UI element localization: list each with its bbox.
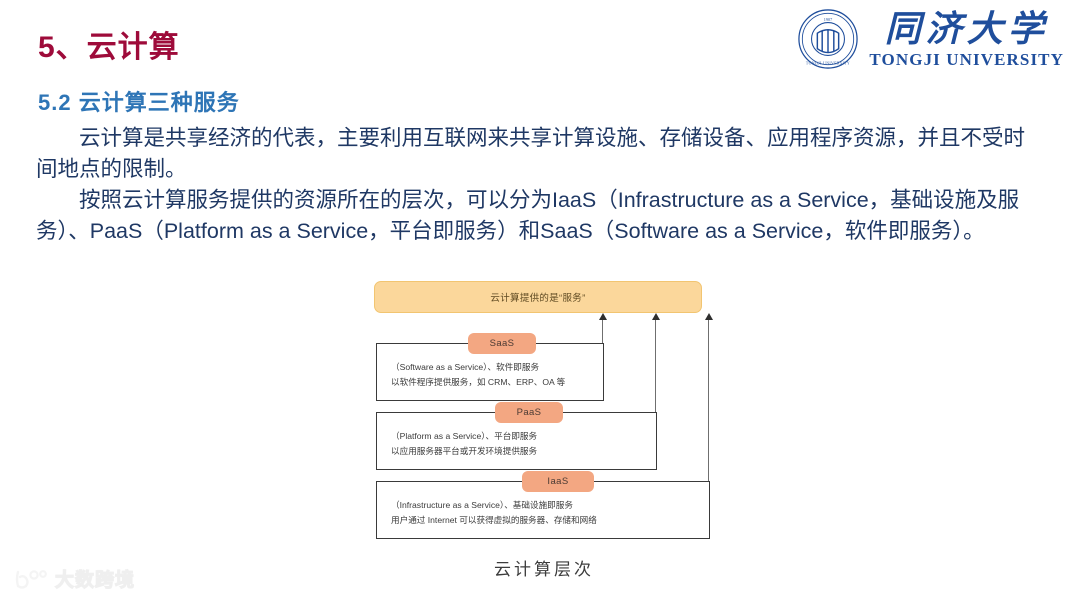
- university-logo: 1907 TONGJI UNIVERSITY 同济大学 TONGJI UNIVE…: [797, 8, 1064, 70]
- layer-description-paas: （Platform as a Service）、平台即服务 以应用服务器平台或开…: [391, 429, 537, 458]
- cloud-layers-diagram: 云计算提供的是“服务” （Infrastructure as a Service…: [374, 281, 714, 553]
- logo-name-en: TONGJI UNIVERSITY: [869, 51, 1064, 68]
- layer-iaas-line2: 用户通过 Internet 可以获得虚拟的服务器、存储和网络: [391, 513, 597, 528]
- layer-description-iaas: （Infrastructure as a Service）、基础设施即服务 用户…: [391, 498, 597, 527]
- paragraph-2: 按照云计算服务提供的资源所在的层次，可以分为IaaS（Infrastructur…: [36, 185, 1036, 247]
- connector-saas: [602, 318, 603, 343]
- layer-paas-line1: （Platform as a Service）、平台即服务: [391, 429, 537, 444]
- body-text: 云计算是共享经济的代表，主要利用互联网来共享计算设施、存储设备、应用程序资源，并…: [36, 123, 1036, 247]
- diagram-caption: 云计算层次: [374, 555, 714, 580]
- layer-saas-line1: （Software as a Service）、软件即服务: [391, 360, 565, 375]
- layer-label-iaas: IaaS: [522, 471, 594, 492]
- svg-text:1907: 1907: [824, 17, 833, 22]
- arrow-head-saas-icon: [599, 313, 607, 320]
- slide-canvas: 1907 TONGJI UNIVERSITY 同济大学 TONGJI UNIVE…: [0, 0, 1080, 608]
- section-subtitle: 5.2 云计算三种服务: [38, 85, 240, 117]
- connector-paas: [655, 318, 656, 412]
- page-title: 5、云计算: [38, 22, 180, 66]
- logo-wordmark: 同济大学 TONGJI UNIVERSITY: [869, 11, 1064, 68]
- arrow-head-paas-icon: [652, 313, 660, 320]
- layer-label-saas: SaaS: [468, 333, 536, 354]
- arrow-head-iaas-icon: [705, 313, 713, 320]
- layer-iaas-line1: （Infrastructure as a Service）、基础设施即服务: [391, 498, 597, 513]
- layer-description-saas: （Software as a Service）、软件即服务 以软件程序提供服务，…: [391, 360, 565, 389]
- watermark: 大数跨境: [14, 565, 135, 592]
- logo-name-cn: 同济大学: [885, 11, 1049, 47]
- svg-text:TONGJI UNIVERSITY: TONGJI UNIVERSITY: [806, 62, 850, 66]
- layer-label-paas: PaaS: [495, 402, 563, 423]
- diagram-banner: 云计算提供的是“服务”: [374, 281, 702, 313]
- dashukuajing-logo-icon: [14, 568, 48, 590]
- connector-iaas: [708, 318, 709, 481]
- paragraph-1: 云计算是共享经济的代表，主要利用互联网来共享计算设施、存储设备、应用程序资源，并…: [36, 123, 1036, 185]
- watermark-text: 大数跨境: [55, 565, 135, 592]
- layer-saas-line2: 以软件程序提供服务，如 CRM、ERP、OA 等: [391, 375, 565, 390]
- tongji-seal-icon: 1907 TONGJI UNIVERSITY: [797, 8, 859, 70]
- layer-paas-line2: 以应用服务器平台或开发环境提供服务: [391, 444, 537, 459]
